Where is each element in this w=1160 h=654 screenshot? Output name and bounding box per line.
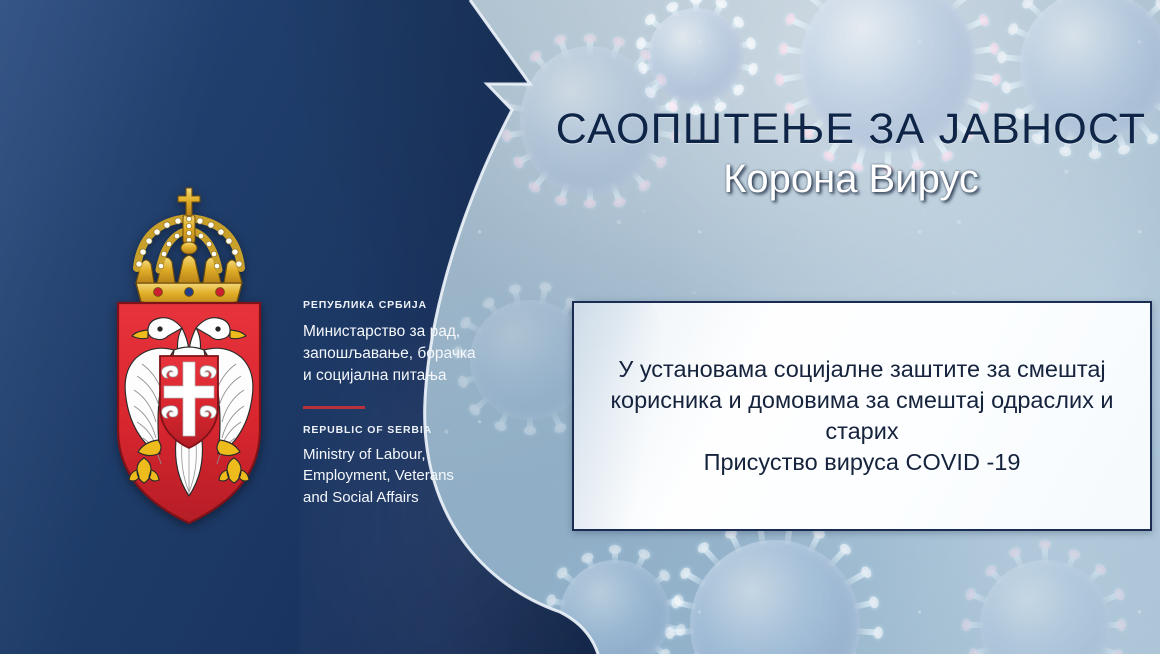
message-text: У установама социјалне заштите за смешта… <box>574 354 1150 479</box>
virion-icon <box>690 540 860 654</box>
country-label-en: REPUBLIC OF SERBIA <box>303 425 503 437</box>
headline-line1: САОПШТЕЊЕ ЗА ЈАВНОСТ <box>545 108 1157 151</box>
crown-icon <box>136 188 242 307</box>
ministry-identity-block: РЕПУБЛИКА СРБИЈА Министарство за рад,зап… <box>303 300 503 508</box>
country-label-sr: РЕПУБЛИКА СРБИЈА <box>303 300 503 312</box>
red-divider <box>303 406 365 409</box>
message-box: У установама социјалне заштите за смешта… <box>572 301 1152 531</box>
avatar <box>96 178 282 530</box>
ministry-name-sr: Министарство за рад,запошљавање, борачка… <box>303 321 503 387</box>
virion-icon <box>648 8 744 104</box>
headline-line2: Корона Вирус <box>545 157 1157 202</box>
page-title: САОПШТЕЊЕ ЗА ЈАВНОСТ Корона Вирус <box>545 108 1157 202</box>
virion-icon <box>980 560 1110 654</box>
coat-of-arms-of-serbia-icon <box>96 178 282 530</box>
ministry-name-en: Ministry of Labour,Employment, Veteransa… <box>303 444 503 508</box>
press-release-poster: РЕПУБЛИКА СРБИЈА Министарство за рад,зап… <box>0 0 1160 654</box>
